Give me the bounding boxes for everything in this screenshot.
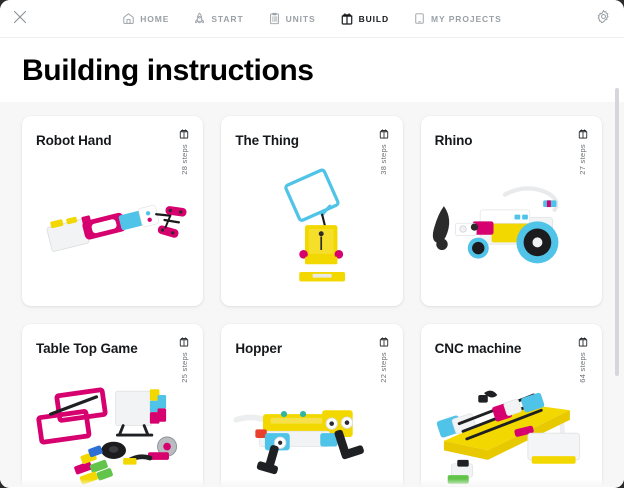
- card-title: Robot Hand: [36, 133, 112, 148]
- page-title: Building instructions: [0, 38, 624, 88]
- card-title: The Thing: [235, 133, 299, 148]
- brick-icon: [178, 336, 190, 348]
- instruction-card[interactable]: The Thing 38 steps: [221, 116, 402, 306]
- model-image-robot-hand: [22, 158, 203, 300]
- close-button[interactable]: [8, 7, 32, 31]
- model-image-table-top-game: [22, 366, 203, 487]
- nav-item-start[interactable]: START: [191, 10, 245, 27]
- close-icon: [13, 10, 27, 29]
- instruction-card[interactable]: CNC machine 64 steps: [421, 324, 602, 487]
- tablet-icon: [413, 12, 426, 25]
- main-nav: HOME START: [120, 10, 503, 28]
- brick-icon: [378, 336, 390, 348]
- model-image-cnc-machine: [421, 366, 602, 487]
- settings-button[interactable]: [592, 8, 614, 30]
- home-icon: [122, 12, 135, 25]
- instruction-card[interactable]: Hopper 22 steps: [221, 324, 402, 487]
- model-image-hopper: [221, 366, 402, 487]
- card-title: Hopper: [235, 341, 282, 356]
- rocket-icon: [193, 12, 206, 25]
- nav-item-my-projects[interactable]: MY PROJECTS: [411, 10, 504, 27]
- vertical-scrollbar[interactable]: [615, 84, 619, 480]
- instruction-card-grid: Robot Hand 28 steps: [0, 102, 624, 487]
- nav-item-home[interactable]: HOME: [120, 10, 171, 27]
- brick-icon: [577, 128, 589, 140]
- card-title: Table Top Game: [36, 341, 138, 356]
- card-title: CNC machine: [435, 341, 522, 356]
- nav-item-label: MY PROJECTS: [431, 14, 502, 24]
- nav-item-label: UNITS: [286, 14, 316, 24]
- content-area: Building instructions Robot Hand 28 ste: [0, 38, 624, 487]
- app-window: HOME START: [0, 0, 624, 488]
- instruction-card[interactable]: Table Top Game 25 steps: [22, 324, 203, 487]
- brick-icon: [577, 336, 589, 348]
- top-navigation-bar: HOME START: [0, 0, 624, 38]
- gear-icon: [596, 9, 611, 29]
- nav-item-label: START: [211, 14, 243, 24]
- title-spacer: [0, 88, 624, 102]
- nav-item-units[interactable]: UNITS: [266, 10, 318, 27]
- clipboard-icon: [268, 12, 281, 25]
- card-title: Rhino: [435, 133, 473, 148]
- brick-icon: [178, 128, 190, 140]
- instruction-card[interactable]: Rhino 27 steps: [421, 116, 602, 306]
- brick-icon: [378, 128, 390, 140]
- instruction-card[interactable]: Robot Hand 28 steps: [22, 116, 203, 306]
- nav-item-label: BUILD: [359, 14, 389, 24]
- model-image-the-thing: [221, 158, 402, 300]
- scrollbar-thumb[interactable]: [615, 88, 619, 376]
- brick-icon: [340, 12, 354, 26]
- model-image-rhino: [421, 158, 602, 300]
- nav-item-label: HOME: [140, 14, 169, 24]
- nav-item-build[interactable]: BUILD: [338, 10, 391, 28]
